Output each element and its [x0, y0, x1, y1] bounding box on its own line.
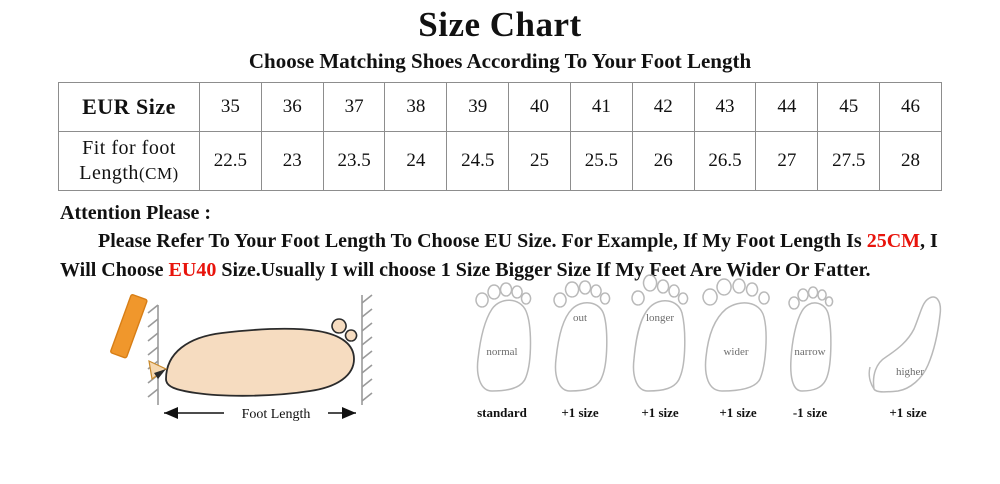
table-cell: 27: [756, 132, 818, 191]
note-highlight-foot-length: 25CM: [867, 230, 920, 252]
toe-icon: [332, 319, 346, 333]
table-cell: 42: [632, 83, 694, 132]
foot-type-out-icon: [554, 281, 610, 391]
foot-type-size-label: standard: [477, 405, 528, 420]
illustrations: Foot Length: [58, 287, 942, 437]
foot-type-size-label: +1 size: [641, 405, 679, 420]
page-subtitle: Choose Matching Shoes According To Your …: [58, 48, 942, 74]
table-cell: 44: [756, 83, 818, 132]
table-row-eur-size: EUR Size 35 36 37 38 39 40 41 42 43 44 4…: [59, 83, 942, 132]
foot-length-caption: Foot Length: [242, 407, 311, 422]
table-cell: 35: [200, 83, 262, 132]
table-cell: 24.5: [447, 132, 509, 191]
foot-type-shape-label: out: [573, 312, 587, 324]
table-cell: 25: [509, 132, 571, 191]
foot-outline-icon: [166, 329, 354, 396]
table-cell: 37: [323, 83, 385, 132]
foot-type-size-label: +1 size: [889, 405, 927, 420]
table-cell: 39: [447, 83, 509, 132]
table-cell: 24: [385, 132, 447, 191]
foot-type-wider-icon: [703, 279, 769, 391]
table-cell: 22.5: [200, 132, 262, 191]
table-cell: 36: [261, 83, 323, 132]
foot-type-size-label: -1 size: [793, 405, 828, 420]
table-row-foot-length: Fit for foot Length(CM) 22.5 23 23.5 24 …: [59, 132, 942, 191]
toe-icon: [346, 330, 357, 341]
size-chart-page: Size Chart Choose Matching Shoes Accordi…: [0, 4, 1000, 484]
foot-measure-diagram: Foot Length: [96, 287, 426, 427]
foot-type-narrow-icon: [789, 287, 833, 391]
page-title: Size Chart: [58, 4, 942, 46]
table-cell: 41: [570, 83, 632, 132]
wall-right-icon: [362, 295, 372, 405]
size-note: Please Refer To Your Foot Length To Choo…: [60, 227, 942, 285]
table-cell: 27.5: [818, 132, 880, 191]
table-cell: 45: [818, 83, 880, 132]
foot-types-diagram: normal out longer wider narrow higher st…: [458, 279, 958, 429]
row-header-line1: Fit for foot: [59, 136, 199, 161]
note-part-3: Size.Usually I will choose 1 Size Bigger…: [216, 259, 870, 281]
attention-label: Attention Please :: [60, 199, 942, 227]
table-cell: 23.5: [323, 132, 385, 191]
table-cell: 43: [694, 83, 756, 132]
foot-type-size-label: +1 size: [561, 405, 599, 420]
row-header-foot-length: Fit for foot Length(CM): [59, 132, 200, 191]
table-cell: 46: [880, 83, 942, 132]
foot-type-size-label: +1 size: [719, 405, 757, 420]
note-highlight-eu-size: EU40: [169, 259, 217, 281]
table-cell: 23: [261, 132, 323, 191]
foot-type-shape-label: higher: [896, 366, 924, 378]
table-cell: 26: [632, 132, 694, 191]
row-header-line2: Length(CM): [59, 161, 199, 186]
foot-type-shape-label: wider: [723, 346, 748, 358]
note-part-1: Please Refer To Your Foot Length To Choo…: [98, 230, 867, 252]
foot-type-shape-label: longer: [646, 312, 674, 324]
table-cell: 40: [509, 83, 571, 132]
foot-type-longer-icon: [632, 275, 688, 391]
wall-left-icon: [148, 305, 158, 405]
foot-type-shape-label: narrow: [794, 346, 825, 358]
table-cell: 38: [385, 83, 447, 132]
row-header-eur-size: EUR Size: [59, 83, 200, 132]
table-cell: 28: [880, 132, 942, 191]
foot-type-shape-label: normal: [486, 346, 517, 358]
size-table: EUR Size 35 36 37 38 39 40 41 42 43 44 4…: [58, 82, 942, 191]
table-cell: 25.5: [570, 132, 632, 191]
foot-type-normal-icon: [476, 283, 531, 391]
table-cell: 26.5: [694, 132, 756, 191]
